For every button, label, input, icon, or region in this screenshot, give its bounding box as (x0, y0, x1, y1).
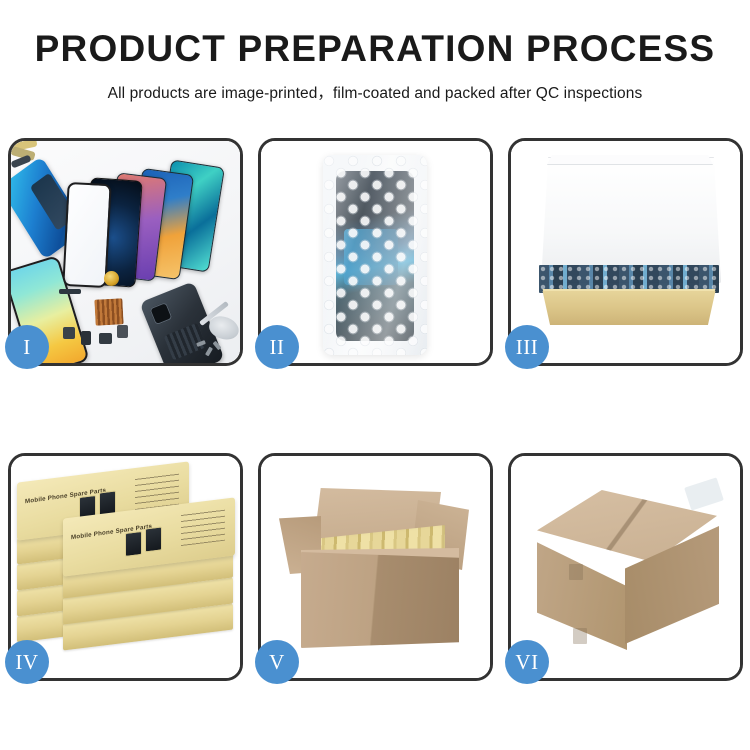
open-carton-body-icon (301, 552, 459, 648)
process-step-panel-1[interactable]: I (8, 138, 243, 366)
step-5-image (261, 456, 490, 678)
step-number-badge-4: IV (5, 640, 49, 684)
packed-wrapped-phones-icon (539, 265, 719, 293)
step-number-badge-5: V (255, 640, 299, 684)
step-2-image (261, 141, 490, 363)
carton-hand-hole-icon (569, 564, 583, 580)
process-step-panel-3[interactable]: III (508, 138, 743, 366)
box-lid-lip (547, 155, 713, 165)
step-6-image (511, 456, 740, 678)
carton-hand-hole-icon (573, 628, 587, 644)
box-artwork-screen-icon (145, 526, 162, 552)
small-component-icon (99, 333, 112, 344)
step-number-badge-6: VI (505, 640, 549, 684)
copper-mesh-part-icon (94, 298, 123, 325)
bubble-wrapped-phone-icon (323, 155, 427, 355)
step-number-badge-1: I (5, 325, 49, 369)
page-subtitle: All products are image-printed，film-coat… (0, 81, 750, 103)
small-component-icon (63, 327, 75, 339)
dark-bar-part-icon (59, 289, 81, 294)
step-1-image (11, 141, 240, 363)
page-header: PRODUCT PREPARATION PROCESS All products… (0, 0, 750, 103)
process-step-panel-4[interactable]: Mobile Phone Spare Parts Mobile Phone Sp… (8, 453, 243, 681)
page-title: PRODUCT PREPARATION PROCESS (0, 30, 750, 69)
gold-coil-part-icon (104, 271, 119, 286)
small-component-icon (117, 325, 128, 338)
yellow-box-base-icon (535, 291, 723, 325)
step-number-badge-2: II (255, 325, 299, 369)
step-4-image: Mobile Phone Spare Parts Mobile Phone Sp… (11, 456, 240, 678)
box-artwork-screen-icon (125, 531, 142, 557)
glass-screen-protector-icon (62, 182, 111, 288)
process-step-panel-5[interactable]: V (258, 453, 493, 681)
plastic-sheen-overlay (323, 155, 427, 355)
small-component-icon (81, 331, 91, 345)
process-step-grid: I II III (8, 138, 742, 681)
process-step-panel-2[interactable]: II (258, 138, 493, 366)
process-step-panel-6[interactable]: VI (508, 453, 743, 681)
box-spec-lines (181, 509, 225, 546)
step-3-image (511, 141, 740, 363)
step-number-badge-3: III (505, 325, 549, 369)
